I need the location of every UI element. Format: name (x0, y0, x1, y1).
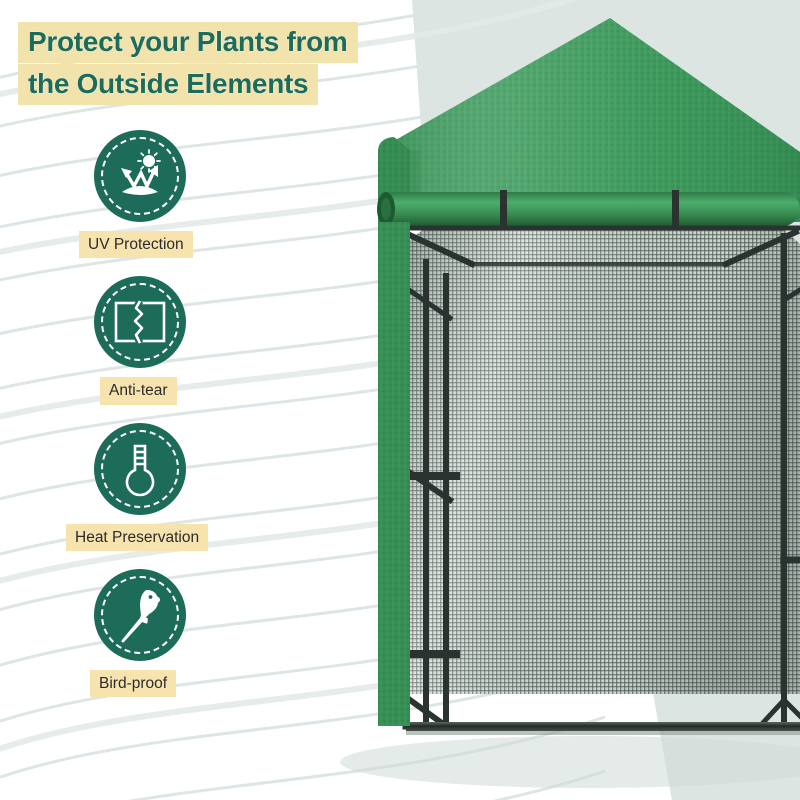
uv-protection-icon (111, 147, 169, 205)
marketing-banner: Protect your Plants from the Outside Ele… (0, 0, 800, 800)
greenhouse-base-rail (406, 722, 800, 735)
anti-tear-icon (112, 297, 168, 347)
feature-list: UV Protection Anti-tear (62, 130, 292, 715)
greenhouse-roof (378, 18, 800, 222)
bird-icon (114, 585, 166, 645)
feature-label-uv-protection: UV Protection (79, 231, 193, 258)
rolled-up-cover (377, 190, 800, 230)
bird-proof-badge (94, 569, 186, 661)
greenhouse-corner-skirt (378, 222, 410, 726)
heat-preservation-badge (94, 423, 186, 515)
greenhouse-mesh-wall (400, 220, 800, 694)
cover-strap (500, 190, 507, 230)
thermometer-icon (117, 440, 163, 498)
walk-in-greenhouse-photo (260, 0, 800, 800)
feature-label-heat-preservation: Heat Preservation (66, 524, 208, 551)
feature-label-anti-tear: Anti-tear (100, 377, 177, 404)
feature-item-heat-preservation: Heat Preservation (62, 423, 292, 551)
cover-strap (672, 190, 679, 230)
feature-item-uv-protection: UV Protection (62, 130, 292, 258)
uv-protection-badge (94, 130, 186, 222)
headline-line-1: Protect your Plants from (18, 22, 358, 63)
anti-tear-badge (94, 276, 186, 368)
headline: Protect your Plants from the Outside Ele… (18, 22, 418, 106)
feature-label-bird-proof: Bird-proof (90, 670, 176, 697)
feature-item-bird-proof: Bird-proof (62, 569, 292, 697)
headline-line-2: the Outside Elements (18, 64, 318, 105)
feature-item-anti-tear: Anti-tear (62, 276, 292, 404)
